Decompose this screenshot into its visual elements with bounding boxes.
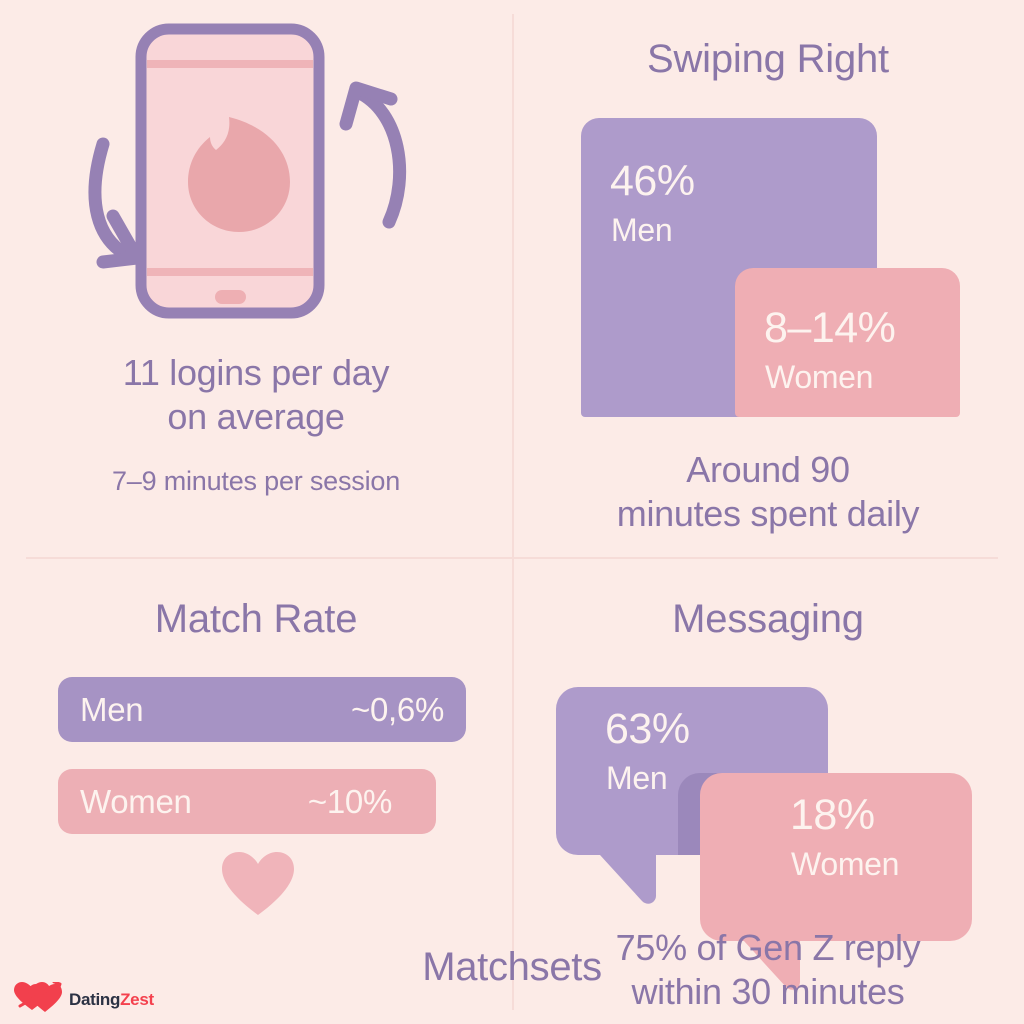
match-rate-women-label: Women xyxy=(80,783,192,821)
messaging-caption-line1: 75% of Gen Z reply xyxy=(512,926,1024,970)
heart-icon xyxy=(222,852,294,916)
logo-dating-text: Dating xyxy=(69,990,120,1009)
messaging-women-label: Women xyxy=(791,846,899,883)
messaging-women-percent: 18% xyxy=(790,791,875,840)
logo-wordmark: DatingZest xyxy=(69,990,154,1010)
hearts-with-arrow-icon xyxy=(12,982,62,1017)
logo-zest-text: Zest xyxy=(120,990,154,1009)
match-rate-women-value: ~10% xyxy=(308,783,392,821)
logins-headline-line1: 11 logins per day xyxy=(0,351,512,395)
match-rate-row-women: Women ~10% xyxy=(58,769,436,834)
phone-refresh-flame-icon xyxy=(0,0,512,340)
logins-subline: 7–9 minutes per session xyxy=(0,466,512,497)
match-rate-men-label: Men xyxy=(80,691,143,729)
match-rate-heading: Match Rate xyxy=(0,597,512,642)
panel-logins: 11 logins per day on average 7–9 minutes… xyxy=(0,0,512,557)
brand-logo[interactable]: DatingZest xyxy=(12,982,154,1017)
messaging-chart: 63% Men 18% Women xyxy=(512,0,1024,1024)
messaging-caption-line2: within 30 minutes xyxy=(512,970,1024,1014)
match-rate-row-men: Men ~0,6% xyxy=(58,677,466,742)
logins-headline-line2: on average xyxy=(0,395,512,439)
infographic-canvas: 11 logins per day on average 7–9 minutes… xyxy=(0,0,1024,1024)
messaging-men-label: Men xyxy=(606,760,667,797)
match-rate-men-value: ~0,6% xyxy=(351,691,444,729)
messaging-men-percent: 63% xyxy=(605,705,690,754)
